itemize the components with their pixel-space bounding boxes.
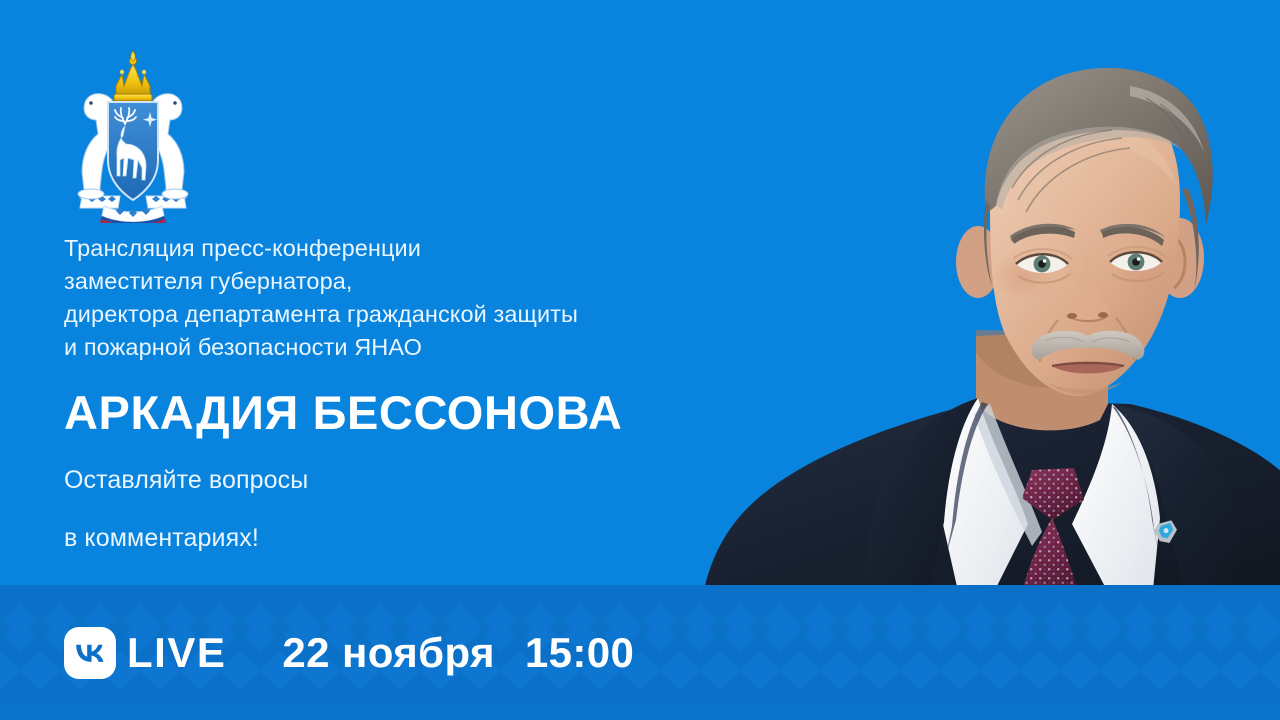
broadcast-info-bar: LIVE 22 ноября 15:00 [0,585,1280,720]
live-label: LIVE [127,632,226,674]
broadcast-time: 15:00 [525,632,634,674]
lede-line-3: директора департамента гражданской защит… [64,298,794,331]
lede-line-4: и пожарной безопасности ЯНАО [64,331,794,364]
broadcast-date: 22 ноября [282,632,495,674]
cta-line-2: в комментариях! [64,520,794,556]
ynao-coat-of-arms-icon [58,48,208,223]
speaker-name-headline: АРКАДИЯ БЕССОНОВА [64,386,794,440]
cta-line-1: Оставляйте вопросы [64,462,794,498]
lede-line-1: Трансляция пресс-конференции [64,232,794,265]
announcement-text: Трансляция пресс-конференции заместителя… [64,232,794,556]
vk-logo-icon[interactable] [64,627,116,679]
lede-line-2: заместителя губернатора, [64,265,794,298]
bar-content: LIVE 22 ноября 15:00 [64,585,634,720]
poster-canvas: Трансляция пресс-конференции заместителя… [0,0,1280,720]
